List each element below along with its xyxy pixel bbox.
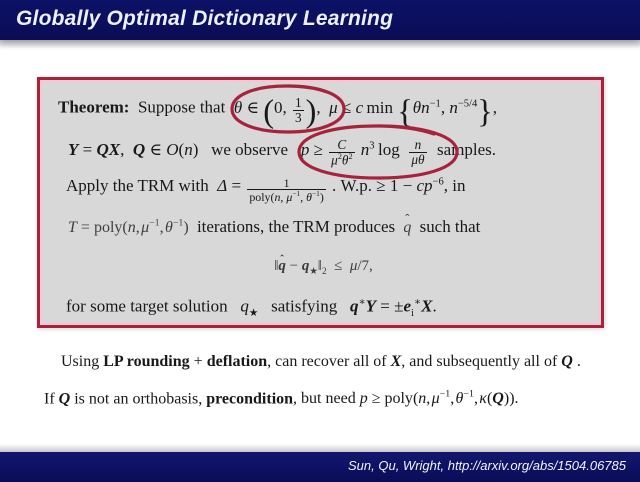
samples-suffix: samples. <box>433 140 496 159</box>
model-equation: Y = QX, Q ∈ O(n) <box>68 140 203 159</box>
sample-complexity-expression: Cμ2θ2 n3 log nμθ <box>327 140 433 159</box>
summary-line-rounding: Using LP rounding + deflation, can recov… <box>61 353 581 371</box>
summary-line-precondition: If Q is not an orthobasis, precondition,… <box>44 389 519 408</box>
summary-line-2-pre: If Q is not an orthobasis, <box>44 390 206 407</box>
summary-line-1-post: , can recover all of X, and subsequently… <box>267 353 581 370</box>
satisfying-text: satisfying <box>263 297 346 316</box>
theorem-iterations-line: T = poly(n, μ−1, θ−1) iterations, the TR… <box>68 217 480 237</box>
theorem-observation-line: Y = QX, Q ∈ O(n) we observe p ≥ Cμ2θ2 n3… <box>68 138 496 166</box>
samples-variable: p <box>301 140 310 159</box>
apply-trm-text: Apply the TRM with <box>66 176 213 195</box>
citation-text: Sun, Qu, Wright, http://arxiv.org/abs/15… <box>348 458 626 473</box>
q-hat-symbol: ̂q <box>403 219 411 237</box>
deflation-emphasis: deflation <box>207 353 267 370</box>
theorem-trm-step-line: Apply the TRM with Δ = 1 poly(n, μ−1, θ−… <box>66 176 465 203</box>
lp-rounding-emphasis: LP rounding <box>103 353 189 370</box>
q-hat-bold-symbol: ̂q <box>278 258 286 275</box>
theorem-error-bound-line: ‖̂q − q★‖2 ≤ μ/7, <box>40 258 607 277</box>
theorem-hypothesis-line: Theorem: Suppose that θ ∈ (0, 13), μ ≤ c… <box>58 96 497 124</box>
slide-title-bar: Globally Optimal Dictionary Learning <box>0 0 640 40</box>
target-solution-text: for some target solution <box>66 297 236 316</box>
summary-line-1-mid: + <box>190 353 207 370</box>
theorem-hypothesis-prefix: Suppose that <box>134 98 230 117</box>
theta-range-expression: θ ∈ (0, 13), <box>234 98 325 117</box>
theorem-box: Theorem: Suppose that θ ∈ (0, 13), μ ≤ c… <box>37 77 604 328</box>
summary-line-1-pre: Using <box>61 353 103 370</box>
title-bar-shadow <box>0 40 640 49</box>
footer-shadow <box>0 444 640 452</box>
summary-line-2-post: , but need p ≥ poly(n, μ−1, θ−1, κ(Q)). <box>293 390 518 407</box>
observe-text: we observe <box>203 140 297 159</box>
footer-bar: Sun, Qu, Wright, http://arxiv.org/abs/15… <box>0 452 640 482</box>
page-title: Globally Optimal Dictionary Learning <box>16 7 393 31</box>
mu-bound-expression: μ ≤ c min {θn−1, n−5/4}, <box>325 98 497 117</box>
delta-fraction: 1 poly(n, μ−1, θ−1) <box>247 177 325 203</box>
theorem-target-solution-line: for some target solution q★ satisfying q… <box>66 296 437 319</box>
precondition-emphasis: precondition <box>206 390 293 407</box>
theorem-label: Theorem: <box>58 98 129 117</box>
probability-clause: . W.p. ≥ 1 − cp−6, in <box>332 176 465 195</box>
